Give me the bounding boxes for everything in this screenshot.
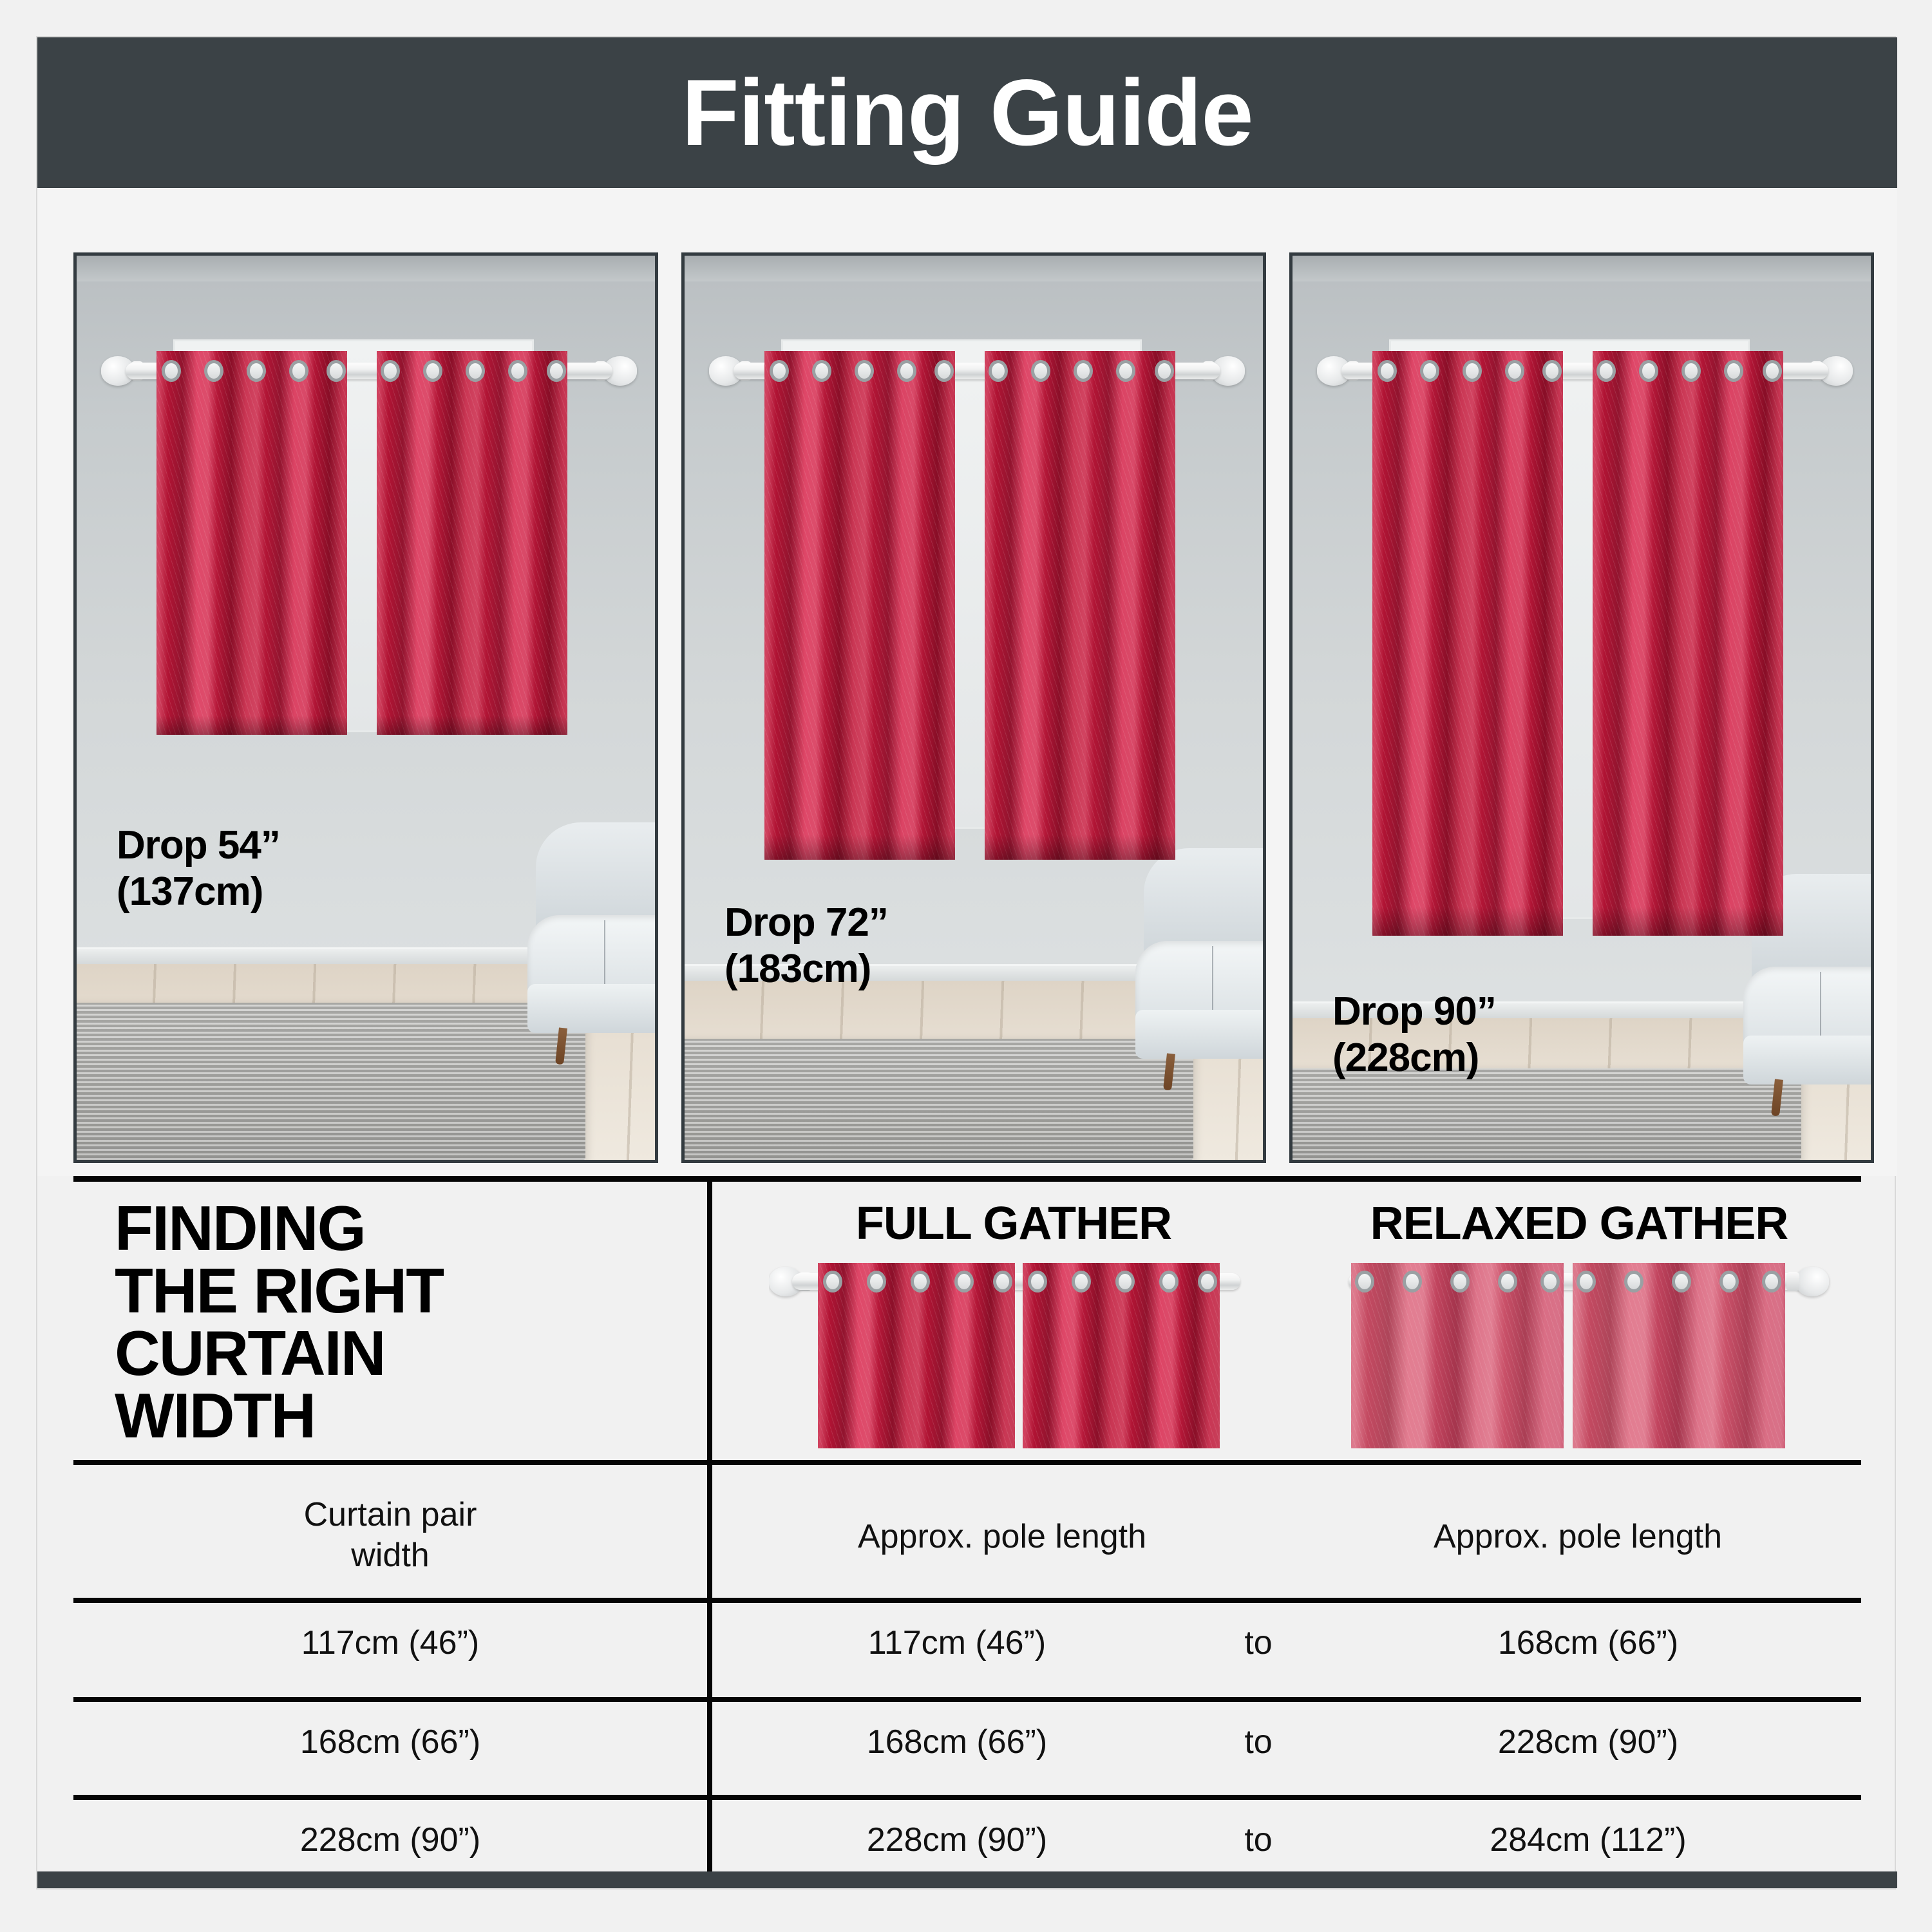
section-title: FINDING THE RIGHT CURTAIN WIDTH bbox=[115, 1197, 681, 1447]
eyelet-icon bbox=[1639, 360, 1658, 382]
eyelet-icon bbox=[381, 360, 400, 382]
table-header-pair-width: Curtain pair width bbox=[73, 1495, 707, 1577]
cornice bbox=[77, 256, 655, 281]
eyelet-icon bbox=[1355, 1271, 1374, 1293]
cell-connector: to bbox=[1244, 1624, 1272, 1662]
eyelet-icon bbox=[1505, 360, 1524, 382]
curtain-left bbox=[764, 351, 955, 860]
eyelet-icon bbox=[1198, 1271, 1217, 1293]
footer-bar bbox=[37, 1871, 1897, 1888]
eyelet-icon bbox=[1403, 1271, 1422, 1293]
sofa-leg bbox=[555, 1028, 567, 1065]
eyelet-icon bbox=[162, 360, 181, 382]
curtain-width-table: FINDING THE RIGHT CURTAIN WIDTH FULL GAT… bbox=[73, 1176, 1861, 1891]
eyelet-icon bbox=[812, 360, 831, 382]
eyelet-icon bbox=[823, 1271, 842, 1293]
table-rule-row1 bbox=[73, 1697, 1861, 1702]
curtain-right bbox=[377, 351, 567, 735]
eyelet-icon bbox=[247, 360, 266, 382]
eyelet-icon bbox=[1028, 1271, 1047, 1293]
eyelet-icon bbox=[1420, 360, 1439, 382]
full-gather-diagram bbox=[769, 1263, 1258, 1450]
table-header-relaxed-pole-length: Approx. pole length bbox=[1294, 1517, 1861, 1557]
sofa-icon bbox=[527, 822, 658, 1067]
table-row: 228cm (90”) bbox=[1315, 1723, 1861, 1761]
eyelet-icon bbox=[1463, 360, 1482, 382]
table-row: 168cm (66”) bbox=[1315, 1624, 1861, 1662]
cornice bbox=[1293, 256, 1871, 281]
sofa-base bbox=[527, 984, 658, 1033]
cell-pair-width: 117cm (46”) bbox=[301, 1624, 479, 1662]
cell-connector: to bbox=[1244, 1723, 1272, 1761]
page-header: Fitting Guide bbox=[37, 37, 1897, 188]
eyelet-icon bbox=[1719, 1271, 1739, 1293]
drop-caption-line1: Drop 72” bbox=[724, 900, 888, 946]
eyelet-icon bbox=[1540, 1271, 1560, 1293]
sofa-seam bbox=[604, 920, 605, 994]
table-header-pair-width-line2: width bbox=[73, 1535, 707, 1576]
eyelet-icon bbox=[867, 1271, 886, 1293]
table-row: 168cm (66”) bbox=[712, 1723, 1202, 1761]
eyelet-icon bbox=[1577, 1271, 1596, 1293]
curtain-right bbox=[1593, 351, 1783, 936]
table-row: to bbox=[1202, 1723, 1315, 1761]
eyelet-icon bbox=[289, 360, 308, 382]
table-row: 117cm (46”) bbox=[73, 1624, 707, 1662]
table-row: 228cm (90”) bbox=[73, 1821, 707, 1859]
cell-relaxed-to: 228cm (90”) bbox=[1498, 1723, 1678, 1761]
section-title-line2: THE RIGHT bbox=[115, 1260, 681, 1322]
eyelet-icon bbox=[1155, 360, 1174, 382]
room-panel-drop-54: Drop 54” (137cm) bbox=[73, 252, 658, 1163]
curtain-left bbox=[156, 351, 347, 735]
cell-full-from: 228cm (90”) bbox=[867, 1821, 1047, 1859]
eyelet-icon bbox=[1624, 1271, 1643, 1293]
table-row: 168cm (66”) bbox=[73, 1723, 707, 1761]
drop-caption-line2: (183cm) bbox=[724, 946, 888, 992]
eyelet-icon bbox=[1672, 1271, 1691, 1293]
eyelet-icon bbox=[466, 360, 485, 382]
eyelet-icon bbox=[1072, 1271, 1091, 1293]
drop-caption-line2: (137cm) bbox=[117, 869, 280, 915]
cell-relaxed-to: 168cm (66”) bbox=[1498, 1624, 1678, 1662]
drop-caption-line2: (228cm) bbox=[1332, 1035, 1496, 1081]
drop-caption-90: Drop 90” (228cm) bbox=[1332, 989, 1496, 1081]
table-rule-header-bottom bbox=[73, 1598, 1861, 1603]
curtain-rig bbox=[90, 332, 649, 744]
eyelet-icon bbox=[1542, 360, 1562, 382]
table-rule-header-top bbox=[73, 1460, 1861, 1465]
room-panels-row: Drop 54” (137cm) bbox=[37, 188, 1897, 1176]
rug-icon bbox=[1289, 1068, 1801, 1160]
drop-caption-line1: Drop 90” bbox=[1332, 989, 1496, 1035]
eyelet-icon bbox=[423, 360, 442, 382]
sofa-leg bbox=[1163, 1054, 1175, 1091]
section-title-line1: FINDING bbox=[115, 1197, 681, 1260]
full-gather-heading: FULL GATHER bbox=[730, 1197, 1297, 1250]
eyelet-icon bbox=[1378, 360, 1397, 382]
cell-full-from: 168cm (66”) bbox=[867, 1723, 1047, 1761]
table-header-full-pole-length: Approx. pole length bbox=[712, 1517, 1292, 1557]
eyelet-icon bbox=[1762, 1271, 1781, 1293]
eyelet-icon bbox=[1450, 1271, 1470, 1293]
section-title-line4: WIDTH bbox=[115, 1385, 681, 1447]
eyelet-icon bbox=[1763, 360, 1782, 382]
section-title-line3: CURTAIN bbox=[115, 1322, 681, 1385]
eyelet-icon bbox=[934, 360, 954, 382]
curtain-rig bbox=[697, 332, 1256, 847]
table-rule-row2 bbox=[73, 1795, 1861, 1800]
eyelet-icon bbox=[897, 360, 916, 382]
table-column-divider bbox=[707, 1182, 712, 1884]
rug-icon bbox=[681, 1039, 1193, 1160]
eyelet-icon bbox=[1724, 360, 1743, 382]
eyelet-icon bbox=[1681, 360, 1701, 382]
guide-card: Fitting Guide bbox=[36, 36, 1896, 1889]
curtain-left bbox=[1372, 351, 1563, 936]
sofa-leg bbox=[1771, 1079, 1783, 1117]
eyelet-icon bbox=[770, 360, 789, 382]
sofa-seam bbox=[1212, 946, 1213, 1019]
page-title: Fitting Guide bbox=[681, 59, 1253, 167]
cell-pair-width: 168cm (66”) bbox=[300, 1723, 480, 1761]
eyelet-icon bbox=[954, 1271, 974, 1293]
eyelet-icon bbox=[1074, 360, 1093, 382]
eyelet-icon bbox=[993, 1271, 1012, 1293]
rug-icon bbox=[73, 1003, 585, 1160]
sofa-base bbox=[1743, 1036, 1874, 1084]
table-row: 284cm (112”) bbox=[1315, 1821, 1861, 1859]
cell-pair-width: 228cm (90”) bbox=[300, 1821, 480, 1859]
drop-caption-line1: Drop 54” bbox=[117, 822, 280, 869]
eyelet-icon bbox=[1116, 360, 1135, 382]
eyelet-icon bbox=[1498, 1271, 1517, 1293]
eyelet-icon bbox=[327, 360, 346, 382]
eyelet-icon bbox=[547, 360, 566, 382]
room-panel-drop-72: Drop 72” (183cm) bbox=[681, 252, 1266, 1163]
eyelet-icon bbox=[855, 360, 874, 382]
cell-full-from: 117cm (46”) bbox=[868, 1624, 1046, 1662]
eyelet-icon bbox=[1031, 360, 1050, 382]
cell-connector: to bbox=[1244, 1821, 1272, 1859]
fitting-guide-page: Fitting Guide bbox=[0, 0, 1932, 1932]
eyelet-icon bbox=[204, 360, 223, 382]
eyelet-icon bbox=[1115, 1271, 1135, 1293]
cell-relaxed-to: 284cm (112”) bbox=[1490, 1821, 1686, 1859]
finial-icon bbox=[1795, 1267, 1829, 1296]
curtain-rig bbox=[1305, 332, 1864, 937]
drop-caption-72: Drop 72” (183cm) bbox=[724, 900, 888, 992]
eyelet-icon bbox=[1159, 1271, 1179, 1293]
sofa-base bbox=[1135, 1010, 1266, 1059]
eyelet-icon bbox=[911, 1271, 930, 1293]
table-header-pair-width-line1: Curtain pair bbox=[73, 1495, 707, 1535]
curtain-right bbox=[985, 351, 1175, 860]
relaxed-gather-heading: RELAXED GATHER bbox=[1297, 1197, 1861, 1250]
eyelet-icon bbox=[508, 360, 527, 382]
table-row: to bbox=[1202, 1624, 1315, 1662]
sofa-seam bbox=[1820, 972, 1821, 1045]
eyelet-icon bbox=[1596, 360, 1616, 382]
sofa-icon bbox=[1135, 848, 1266, 1093]
table-row: 228cm (90”) bbox=[712, 1821, 1202, 1859]
room-panel-drop-90: Drop 90” (228cm) bbox=[1289, 252, 1874, 1163]
table-row: to bbox=[1202, 1821, 1315, 1859]
relaxed-gather-diagram bbox=[1336, 1263, 1851, 1450]
cornice bbox=[685, 256, 1263, 281]
drop-caption-54: Drop 54” (137cm) bbox=[117, 822, 280, 915]
eyelet-icon bbox=[989, 360, 1008, 382]
table-row: 117cm (46”) bbox=[712, 1624, 1202, 1662]
